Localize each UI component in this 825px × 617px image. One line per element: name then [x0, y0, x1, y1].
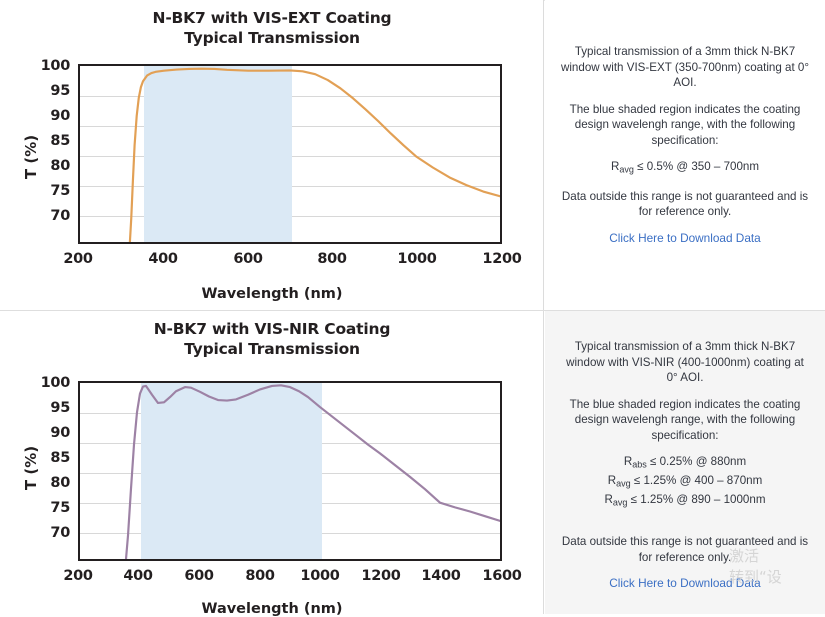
- description-text-vis-ext: Typical transmission of a 3mm thick N-BK…: [559, 0, 811, 246]
- desc-paragraph-2: The blue shaded region indicates the coa…: [559, 397, 811, 444]
- y-tick-top-85: 85: [26, 133, 70, 149]
- plot-wrap-bottom: N-BK7 with VIS-NIR Coating Typical Trans…: [0, 311, 544, 614]
- y-tick-top-70: 70: [26, 208, 70, 224]
- download-data-link-vis-ext[interactable]: Click Here to Download Data: [559, 231, 811, 247]
- y-tick-bottom-70: 70: [26, 525, 70, 541]
- transmission-curves-page: N-BK7 with VIS-EXT Coating Typical Trans…: [0, 0, 825, 614]
- x-tick-bottom-1400: 1400: [417, 568, 465, 584]
- spec-line-2: Ravg ≤ 1.25% @ 400 – 870nm: [559, 473, 811, 492]
- desc-paragraph-3: Data outside this range is not guarantee…: [559, 189, 811, 220]
- spec-line-3: Ravg ≤ 1.25% @ 890 – 1000nm: [559, 492, 811, 511]
- panel-vis-nir: N-BK7 with VIS-NIR Coating Typical Trans…: [0, 311, 825, 614]
- x-tick-bottom-1000: 1000: [296, 568, 344, 584]
- desc-paragraph-1: Typical transmission of a 3mm thick N-BK…: [559, 339, 811, 386]
- chart-title-line1: N-BK7 with VIS-NIR Coating: [154, 320, 390, 338]
- y-tick-top-75: 75: [26, 183, 70, 199]
- plot-area-bottom: [78, 381, 502, 561]
- spec-subscript: avg: [616, 478, 631, 488]
- chart-title-line2: Typical Transmission: [0, 28, 544, 48]
- x-tick-bottom-400: 400: [114, 568, 162, 584]
- chart-title-line2: Typical Transmission: [0, 339, 544, 359]
- description-cell-vis-nir: Typical transmission of a 3mm thick N-BK…: [545, 311, 825, 614]
- x-tick-bottom-800: 800: [236, 568, 284, 584]
- spec-line-1: Ravg ≤ 0.5% @ 350 – 700nm: [559, 159, 811, 178]
- x-tick-top-200: 200: [54, 251, 102, 267]
- spec-block-vis-ext: Ravg ≤ 0.5% @ 350 – 700nm: [559, 159, 811, 178]
- spec-symbol: R: [605, 493, 613, 506]
- chart-title-vis-nir: N-BK7 with VIS-NIR Coating Typical Trans…: [0, 311, 544, 359]
- spec-rest: ≤ 0.25% @ 880nm: [647, 455, 746, 468]
- y-tick-bottom-75: 75: [26, 500, 70, 516]
- plot-wrap-top: N-BK7 with VIS-EXT Coating Typical Trans…: [0, 0, 544, 310]
- y-tick-bottom-85: 85: [26, 450, 70, 466]
- spec-subscript: avg: [613, 497, 628, 507]
- y-tick-top-100: 100: [26, 58, 70, 74]
- x-tick-bottom-1600: 1600: [478, 568, 526, 584]
- download-data-link-vis-nir[interactable]: Click Here to Download Data: [559, 576, 811, 592]
- chart-title-line1: N-BK7 with VIS-EXT Coating: [153, 9, 392, 27]
- x-axis-label-bottom: Wavelength (nm): [0, 601, 544, 617]
- y-tick-bottom-100: 100: [26, 375, 70, 391]
- spec-rest: ≤ 0.5% @ 350 – 700nm: [634, 160, 759, 173]
- x-tick-top-1000: 1000: [393, 251, 441, 267]
- chart-title-vis-ext: N-BK7 with VIS-EXT Coating Typical Trans…: [0, 0, 544, 48]
- description-text-vis-nir: Typical transmission of a 3mm thick N-BK…: [559, 311, 811, 592]
- y-tick-top-95: 95: [26, 83, 70, 99]
- y-tick-bottom-80: 80: [26, 475, 70, 491]
- x-tick-top-800: 800: [308, 251, 356, 267]
- spec-subscript: abs: [632, 459, 647, 469]
- desc-paragraph-1: Typical transmission of a 3mm thick N-BK…: [559, 44, 811, 91]
- x-tick-bottom-600: 600: [175, 568, 223, 584]
- spec-block-vis-nir: Rabs ≤ 0.25% @ 880nm Ravg ≤ 1.25% @ 400 …: [559, 454, 811, 510]
- x-tick-bottom-200: 200: [54, 568, 102, 584]
- spec-subscript: avg: [619, 164, 634, 174]
- spec-symbol: R: [608, 474, 616, 487]
- desc-paragraph-3: Data outside this range is not guarantee…: [559, 534, 811, 565]
- y-axis-label-bottom: T (%): [22, 433, 40, 503]
- desc-paragraph-2: The blue shaded region indicates the coa…: [559, 102, 811, 149]
- y-tick-top-90: 90: [26, 108, 70, 124]
- panel-vis-ext: N-BK7 with VIS-EXT Coating Typical Trans…: [0, 0, 825, 311]
- x-tick-top-1200: 1200: [478, 251, 526, 267]
- chart-cell-vis-ext: N-BK7 with VIS-EXT Coating Typical Trans…: [0, 0, 544, 310]
- transmission-curve-vis-nir: [80, 383, 500, 559]
- y-tick-top-80: 80: [26, 158, 70, 174]
- x-tick-top-600: 600: [224, 251, 272, 267]
- y-tick-bottom-90: 90: [26, 425, 70, 441]
- plot-area-top: [78, 64, 502, 244]
- spacer: [559, 521, 811, 534]
- spec-rest: ≤ 1.25% @ 890 – 1000nm: [627, 493, 765, 506]
- y-tick-bottom-95: 95: [26, 400, 70, 416]
- x-tick-top-400: 400: [139, 251, 187, 267]
- description-cell-vis-ext: Typical transmission of a 3mm thick N-BK…: [545, 0, 825, 310]
- chart-cell-vis-nir: N-BK7 with VIS-NIR Coating Typical Trans…: [0, 311, 544, 614]
- x-axis-label-top: Wavelength (nm): [0, 286, 544, 302]
- x-tick-bottom-1200: 1200: [357, 568, 405, 584]
- spec-symbol: R: [624, 455, 632, 468]
- spec-line-1: Rabs ≤ 0.25% @ 880nm: [559, 454, 811, 473]
- spec-rest: ≤ 1.25% @ 400 – 870nm: [631, 474, 763, 487]
- transmission-curve-vis-ext: [80, 66, 500, 242]
